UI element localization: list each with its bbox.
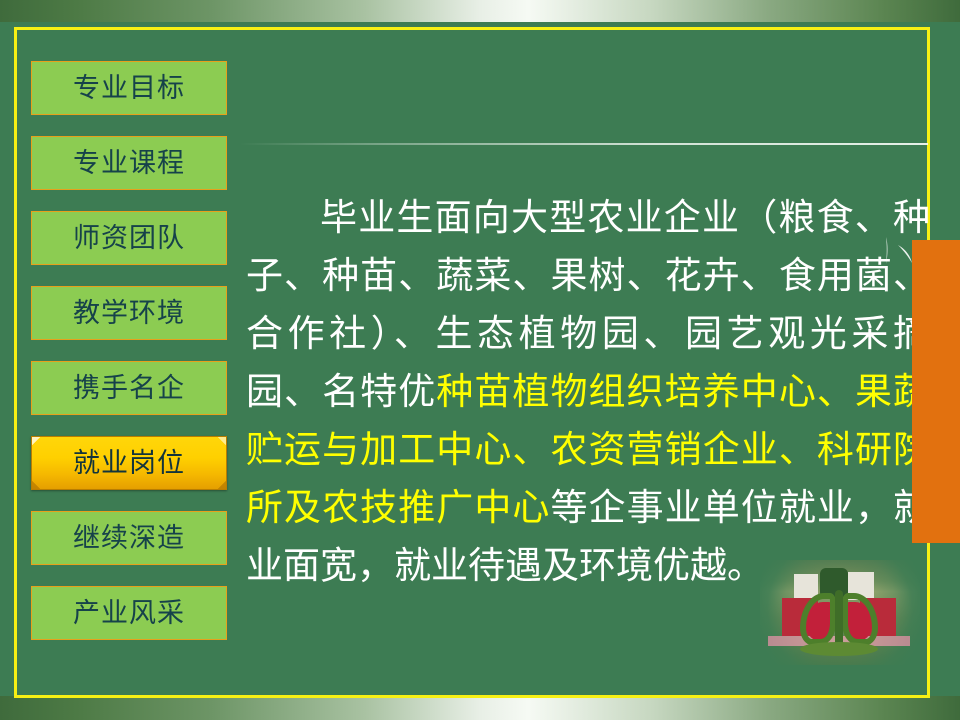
body-paragraph: 毕业生面向大型农业企业（粮食、种子、种苗、蔬菜、果树、花卉、食用菌、合作社）、生… [246, 189, 930, 595]
photo-butterfly-body [835, 590, 843, 646]
bottom-decorative-band [0, 696, 960, 720]
sidebar-item-major-courses[interactable]: 专业课程 [31, 136, 227, 190]
top-decorative-band [0, 0, 960, 22]
sidebar-item-label: 产业风采 [73, 600, 185, 627]
photo-planter-base [800, 642, 878, 656]
sidebar-item-partner-enterprises[interactable]: 携手名企 [31, 361, 227, 415]
photo-image [760, 560, 920, 665]
sidebar-item-major-goal[interactable]: 专业目标 [31, 61, 227, 115]
sidebar-item-label: 继续深造 [73, 525, 185, 552]
sidebar-nav: 专业目标 专业课程 师资团队 教学环境 携手名企 就业岗位 继续深造 产业风采 [31, 61, 227, 661]
butterfly-topiary-photo [760, 560, 920, 665]
sidebar-item-label: 携手名企 [73, 375, 185, 402]
sidebar-item-label: 教学环境 [73, 300, 185, 327]
sidebar-item-label: 专业目标 [73, 75, 185, 102]
sidebar-item-employment-positions[interactable]: 就业岗位 [31, 436, 227, 490]
sidebar-item-label: 师资团队 [73, 225, 185, 252]
sidebar-item-industry-showcase[interactable]: 产业风采 [31, 586, 227, 640]
sidebar-item-teaching-environment[interactable]: 教学环境 [31, 286, 227, 340]
sidebar-item-label: 专业课程 [73, 150, 185, 177]
sidebar-item-faculty-team[interactable]: 师资团队 [31, 211, 227, 265]
content-divider-rule [240, 143, 928, 145]
sidebar-item-further-study[interactable]: 继续深造 [31, 511, 227, 565]
slide-canvas: 专业目标 专业课程 师资团队 教学环境 携手名企 就业岗位 继续深造 产业风采 … [0, 0, 960, 720]
sidebar-item-label: 就业岗位 [73, 450, 185, 477]
orange-accent-bar [912, 240, 960, 543]
